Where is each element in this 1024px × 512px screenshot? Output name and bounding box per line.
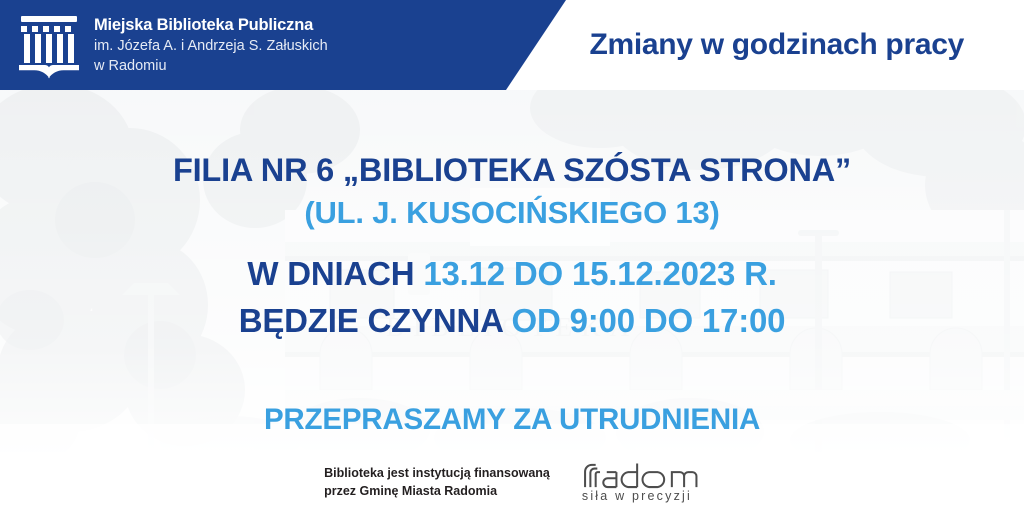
dates-label: W DNIACH xyxy=(247,255,423,292)
announcement-poster: BIBLIOTEKA xyxy=(0,0,1024,512)
branch-name-line: FILIA NR 6 „BIBLIOTEKA SZÓSTA STRONA” xyxy=(0,152,1024,189)
radom-city-logo: siła w precyzji xyxy=(582,462,700,503)
library-brand: Miejska Biblioteka Publiczna im. Józefa … xyxy=(18,12,328,80)
funding-note: Biblioteka jest instytucją finansowaną p… xyxy=(324,464,550,500)
apology-line: PRZEPRASZAMY ZA UTRUDNIENIA xyxy=(0,403,1024,437)
funding-note-line1: Biblioteka jest instytucją finansowaną xyxy=(324,464,550,482)
main-message: FILIA NR 6 „BIBLIOTEKA SZÓSTA STRONA” (U… xyxy=(0,90,1024,452)
dates-line: W DNIACH 13.12 DO 15.12.2023 R. xyxy=(0,255,1024,293)
branch-address: (UL. J. KUSOCIŃSKIEGO 13) xyxy=(304,195,719,230)
library-name: Miejska Biblioteka Publiczna xyxy=(94,15,328,36)
hours-label: BĘDZIE CZYNNA xyxy=(239,302,512,339)
branch-name: BIBLIOTEKA SZÓSTA STRONA” xyxy=(359,152,851,188)
page-title: Zmiany w godzinach pracy xyxy=(589,28,964,62)
library-brand-text: Miejska Biblioteka Publiczna im. Józefa … xyxy=(94,12,328,76)
radom-tagline: siła w precyzji xyxy=(582,490,692,503)
funding-note-line2: przez Gminę Miasta Radomia xyxy=(324,482,550,500)
poster-header: Miejska Biblioteka Publiczna im. Józefa … xyxy=(0,0,1024,90)
library-patron-line: im. Józefa A. i Andrzeja S. Załuskich xyxy=(94,36,328,56)
library-city-line: w Radomiu xyxy=(94,56,328,76)
dates-value: 13.12 DO 15.12.2023 R. xyxy=(423,255,776,292)
radom-r-mark-icon xyxy=(582,462,700,489)
library-columns-book-icon xyxy=(18,14,80,80)
hours-line: BĘDZIE CZYNNA OD 9:00 DO 17:00 xyxy=(0,302,1024,340)
hours-value: OD 9:00 DO 17:00 xyxy=(512,302,786,339)
poster-footer: Biblioteka jest instytucją finansowaną p… xyxy=(0,452,1024,512)
branch-prefix: FILIA NR 6 „ xyxy=(173,152,359,188)
branch-address-line: (UL. J. KUSOCIŃSKIEGO 13) xyxy=(0,195,1024,231)
apology-text: PRZEPRASZAMY ZA UTRUDNIENIA xyxy=(264,403,760,436)
